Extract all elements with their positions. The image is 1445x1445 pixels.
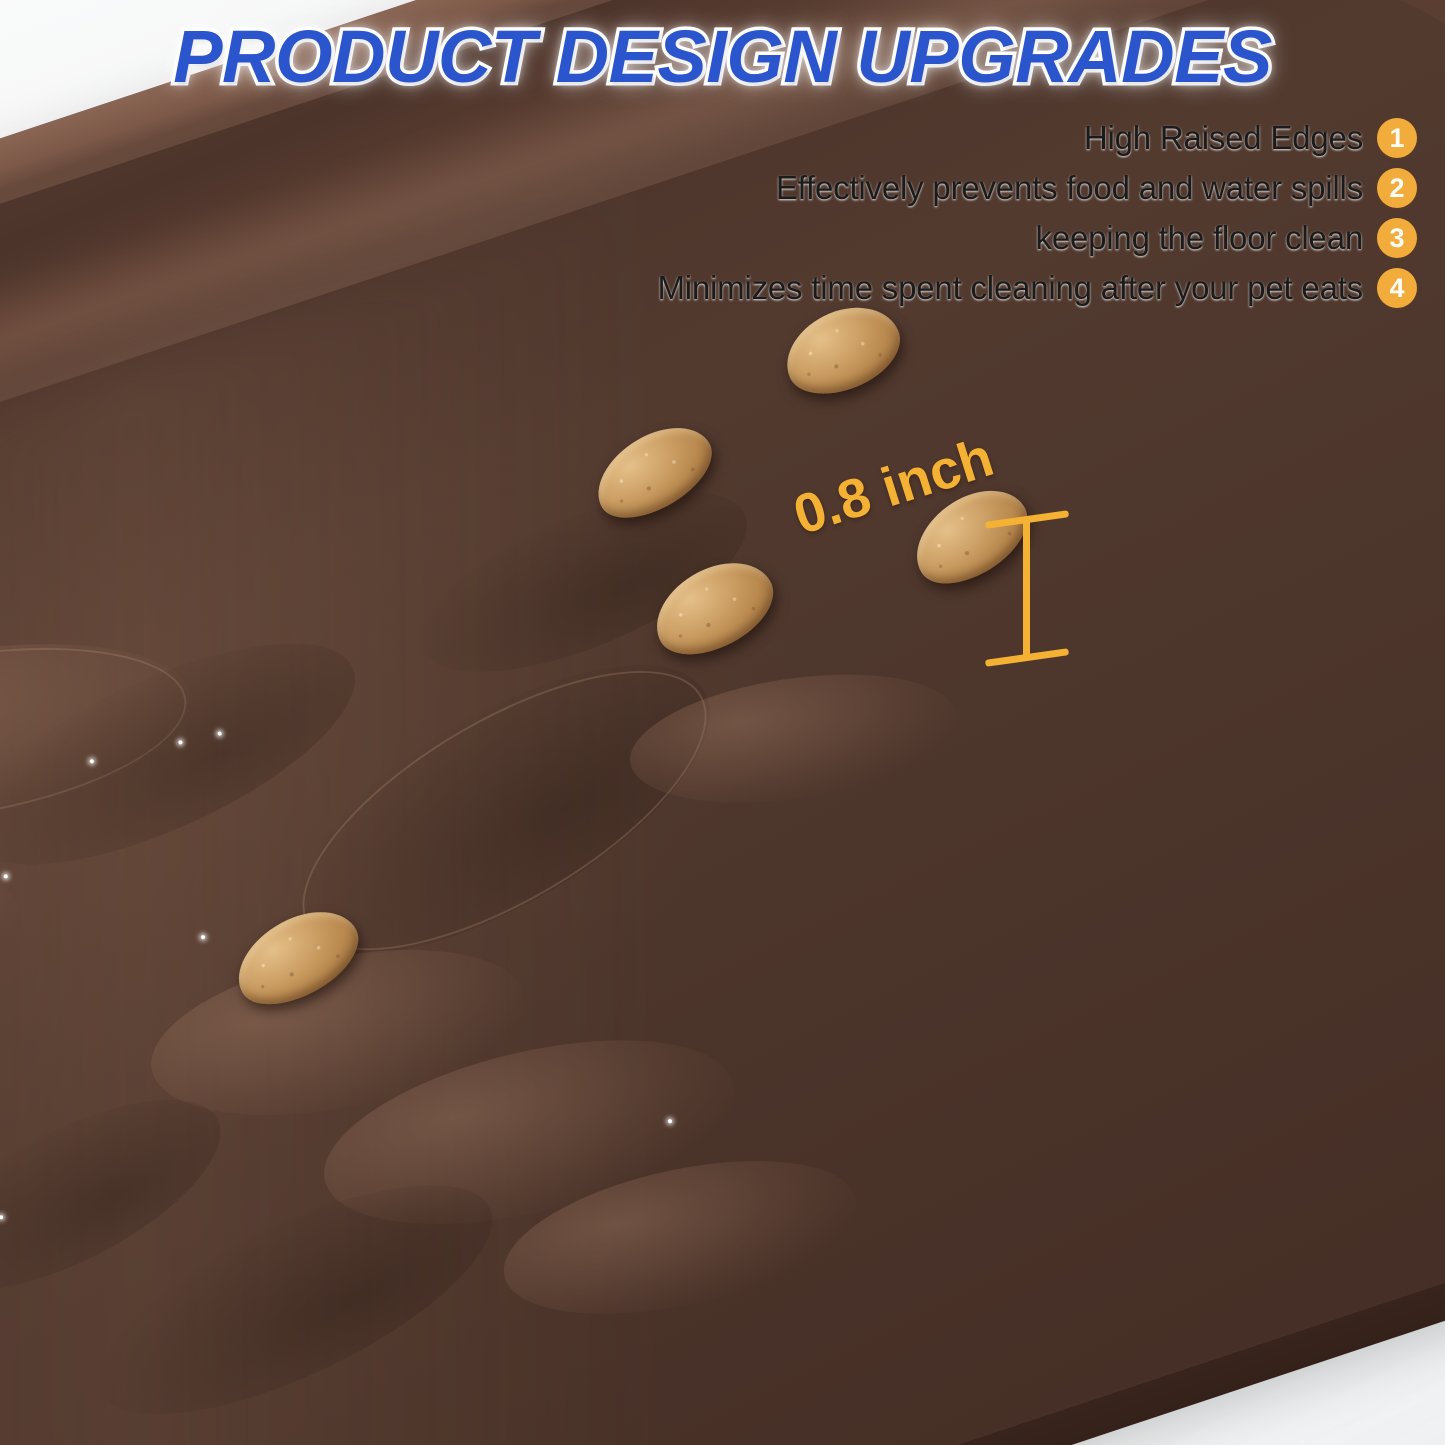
list-item: Minimizes time spent cleaning after your… (657, 268, 1417, 308)
feature-list: High Raised Edges 1 Effectively prevents… (657, 118, 1417, 308)
list-item: keeping the floor clean 3 (1036, 218, 1417, 258)
feature-label: High Raised Edges (1084, 119, 1363, 157)
product-marketing-image: 0.8 inch PRODUCT DESIGN UPGRADES High Ra… (0, 0, 1445, 1445)
feature-label: Effectively prevents food and water spil… (776, 169, 1363, 207)
list-item: Effectively prevents food and water spil… (776, 168, 1417, 208)
list-item: High Raised Edges 1 (1084, 118, 1417, 158)
feature-number-badge: 1 (1377, 118, 1417, 158)
feature-label: keeping the floor clean (1036, 219, 1363, 257)
feature-number-badge: 3 (1377, 218, 1417, 258)
dimension-stem (1023, 518, 1030, 660)
dimension-i-beam-icon (995, 512, 1059, 664)
feature-number-badge: 4 (1377, 268, 1417, 308)
page-title: PRODUCT DESIGN UPGRADES (0, 14, 1445, 99)
feature-label: Minimizes time spent cleaning after your… (657, 269, 1363, 307)
feature-number-badge: 2 (1377, 168, 1417, 208)
